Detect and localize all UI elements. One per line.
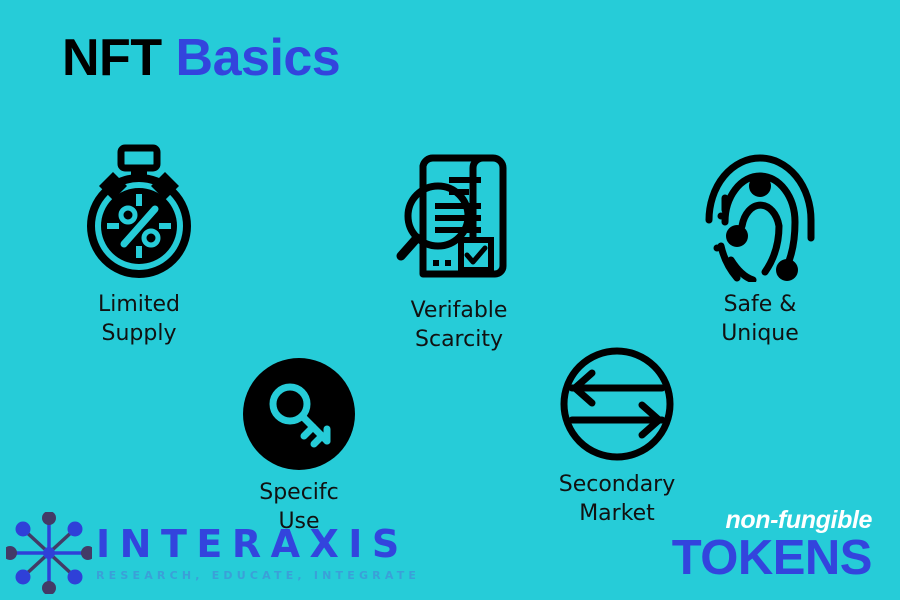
caption-line-1: Safe & (724, 292, 797, 317)
logo-lockup: INTERAXIS RESEARCH, EDUCATE, INTEGRATE (96, 525, 420, 581)
interaxis-logo[interactable]: INTERAXIS RESEARCH, EDUCATE, INTEGRATE (6, 512, 420, 594)
caption-line-1: Specifc (259, 480, 339, 505)
feature-secondary-market: Secondary Market (522, 322, 712, 529)
caption-line-1: Limited (98, 292, 180, 317)
logo-tagline: RESEARCH, EDUCATE, INTEGRATE (96, 570, 420, 581)
icon-container (204, 330, 394, 470)
icon-container (522, 322, 712, 462)
key-circle-icon (243, 358, 355, 470)
page-title: NFT Basics (62, 32, 340, 84)
document-magnifier-icon (395, 148, 523, 288)
wordmark-line-1: non-fungible (672, 508, 872, 533)
interaxis-node-star-icon (6, 512, 92, 594)
wordmark-line-2: TOKENS (672, 533, 872, 584)
fingerprint-icon (701, 142, 819, 282)
non-fungible-tokens-wordmark: non-fungible TOKENS (672, 508, 872, 584)
caption-line-1: Secondary (559, 472, 676, 497)
caption-line-1: Verifable (411, 298, 508, 323)
stopwatch-percent-icon (77, 142, 201, 282)
feature-safe-unique: Safe & Unique (665, 142, 855, 349)
title-word-nft: NFT (62, 29, 162, 87)
icon-container (44, 142, 234, 282)
icon-container (665, 142, 855, 282)
icon-container (364, 148, 554, 288)
feature-limited-supply: Limited Supply (44, 142, 234, 349)
exchange-arrows-icon (559, 346, 675, 462)
feature-specifc-use: Specifc Use (204, 330, 394, 537)
poster-canvas: NFT Basics (0, 0, 900, 600)
title-word-basics: Basics (176, 29, 341, 87)
logo-brand-name: INTERAXIS (96, 525, 420, 563)
